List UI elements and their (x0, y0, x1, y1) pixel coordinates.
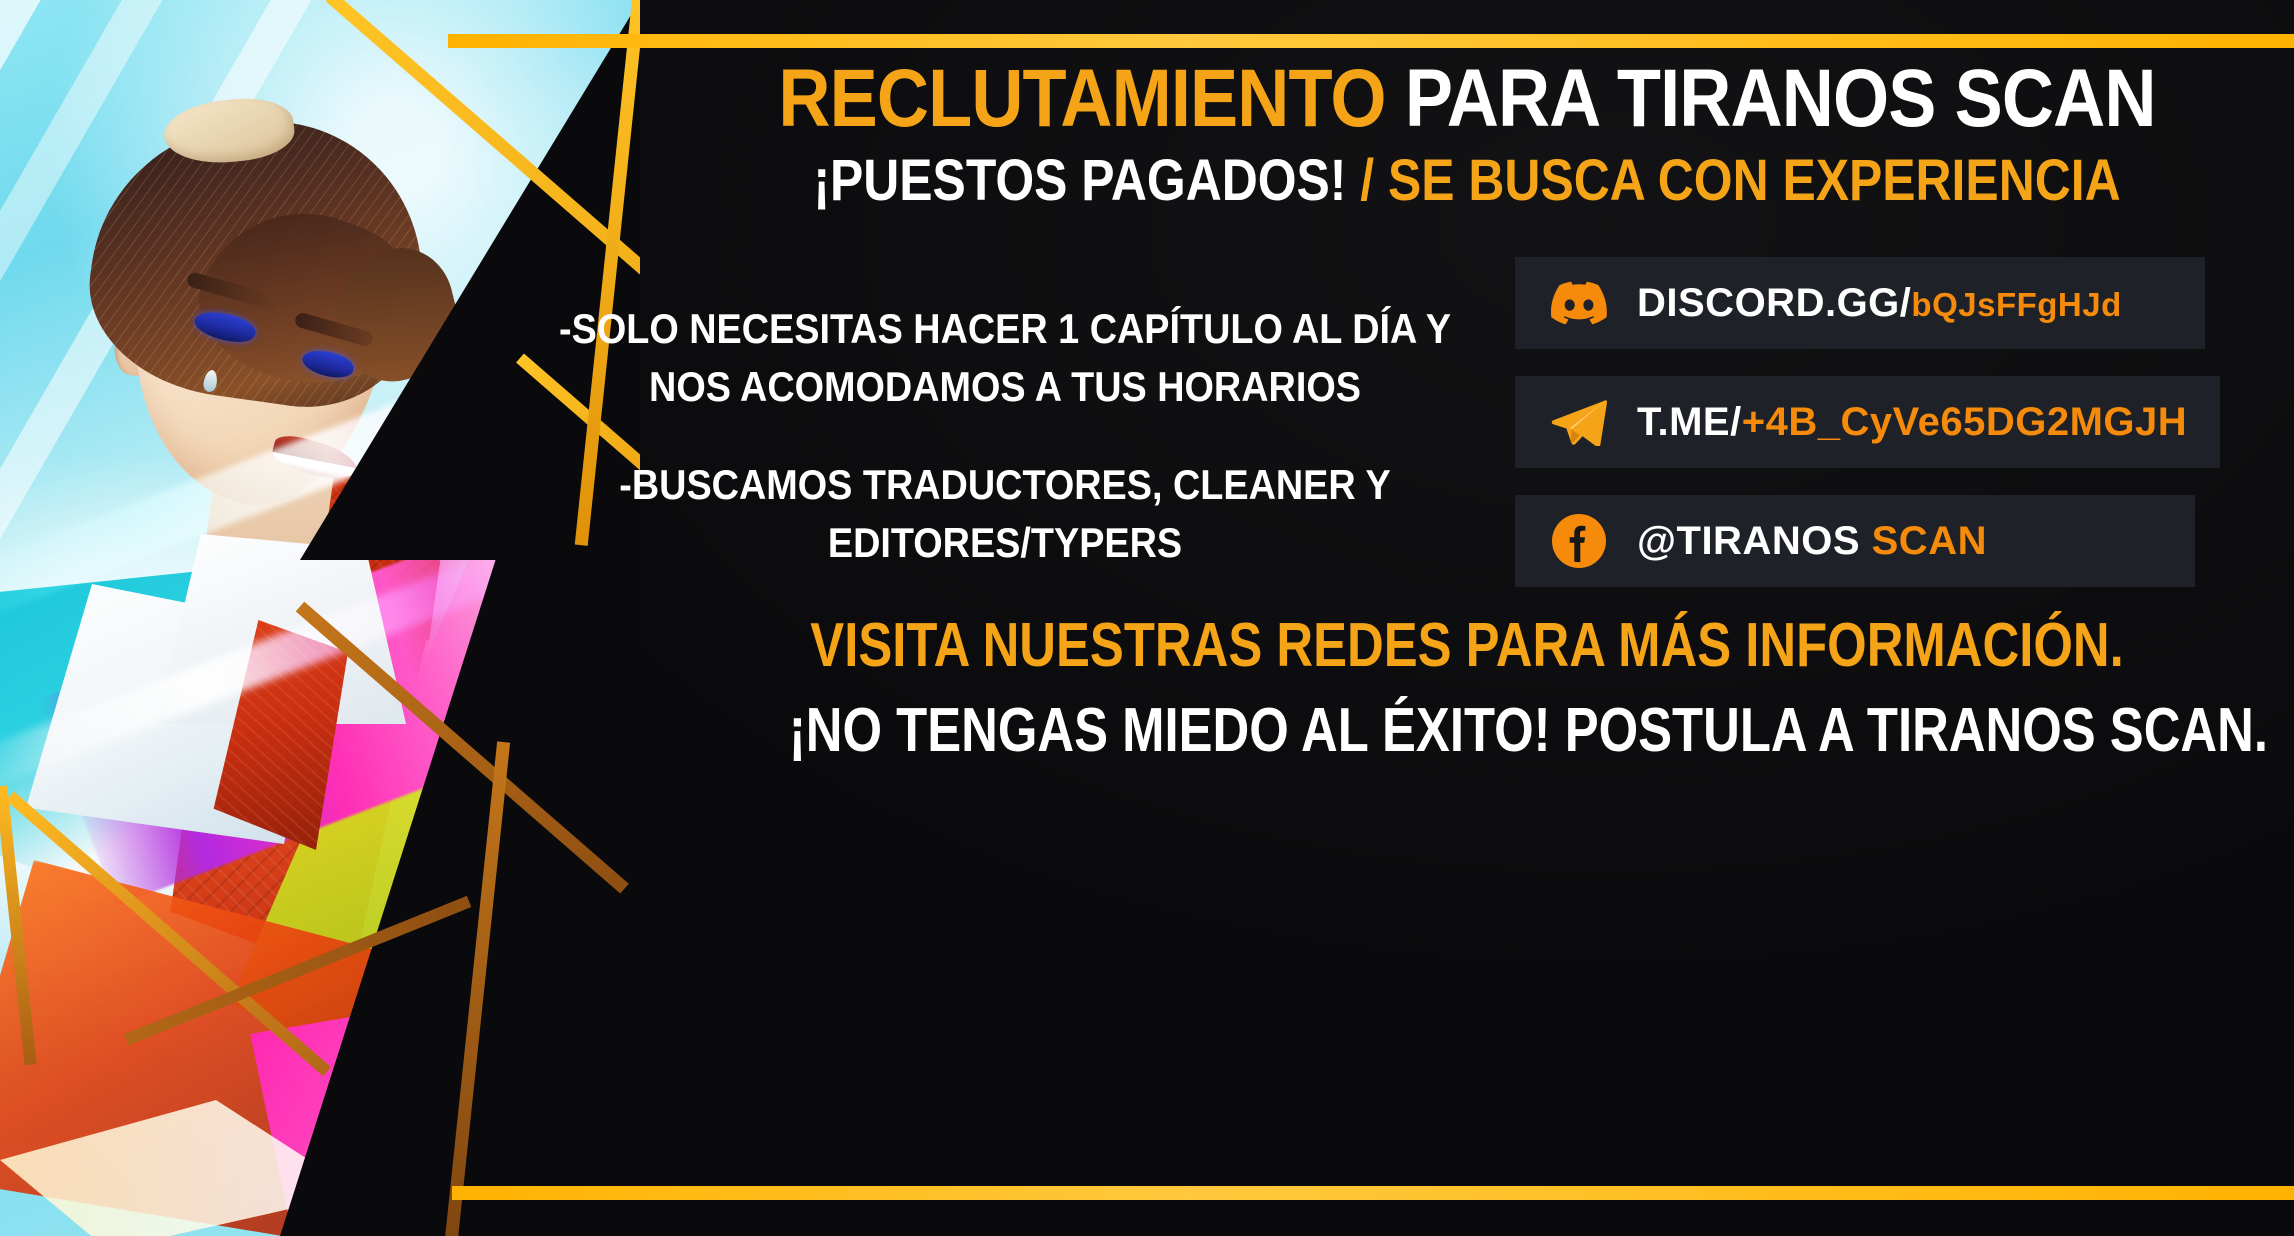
cta-line-2: ¡NO TENGAS MIEDO AL ÉXITO! POSTULA A TIR… (789, 700, 2145, 762)
recruitment-banner: RECLUTAMIENTO PARA TIRANOS SCAN ¡PUESTOS… (0, 0, 2294, 1236)
headline-rest: PARA TIRANOS SCAN (1386, 53, 2156, 144)
discord-icon (1551, 275, 1607, 331)
requirements-block: -SOLO NECESITAS HACER 1 CAPÍTULO AL DÍA … (551, 300, 1460, 572)
discord-invite-code: bQJsFFgHJd (1911, 286, 2121, 323)
contact-card-facebook[interactable]: @TIRANOS SCAN (1515, 495, 2195, 587)
requirement-roles: -BUSCAMOS TRADUCTORES, CLEANER Y EDITORE… (551, 456, 1460, 572)
contact-card-discord[interactable]: DISCORD.GG/bQJsFFgHJd (1515, 257, 2205, 349)
telegram-invite-code: +4B_CyVe65DG2MGJH (1742, 400, 2187, 444)
facebook-icon (1551, 513, 1607, 569)
contact-list: DISCORD.GG/bQJsFFgHJd T.ME/+4B_CyVe65DG2… (1515, 257, 2235, 614)
page-subtitle: ¡PUESTOS PAGADOS! / SE BUSCA CON EXPERIE… (756, 152, 2178, 210)
facebook-handle-name: @TIRANOS (1637, 519, 1872, 563)
telegram-link-text: T.ME/+4B_CyVe65DG2MGJH (1637, 400, 2187, 445)
artwork-panel (0, 0, 640, 1236)
content-area: RECLUTAMIENTO PARA TIRANOS SCAN ¡PUESTOS… (640, 0, 2294, 1236)
headline-highlight: RECLUTAMIENTO (778, 53, 1385, 144)
cta-line-1: VISITA NUESTRAS REDES PARA MÁS INFORMACI… (789, 615, 2145, 677)
facebook-handle-accent: SCAN (1872, 519, 1987, 563)
telegram-icon (1551, 394, 1607, 450)
subtitle-paid: ¡PUESTOS PAGADOS! (813, 148, 1346, 213)
facebook-link-text: @TIRANOS SCAN (1637, 519, 1987, 564)
page-title: RECLUTAMIENTO PARA TIRANOS SCAN (739, 58, 2195, 140)
discord-domain: DISCORD.GG/ (1637, 281, 1911, 325)
telegram-domain: T.ME/ (1637, 400, 1742, 444)
requirement-schedule: -SOLO NECESITAS HACER 1 CAPÍTULO AL DÍA … (551, 300, 1460, 416)
subtitle-experience: / SE BUSCA CON EXPERIENCIA (1346, 148, 2120, 213)
contact-card-telegram[interactable]: T.ME/+4B_CyVe65DG2MGJH (1515, 376, 2220, 468)
discord-link-text: DISCORD.GG/bQJsFFgHJd (1637, 281, 2122, 326)
